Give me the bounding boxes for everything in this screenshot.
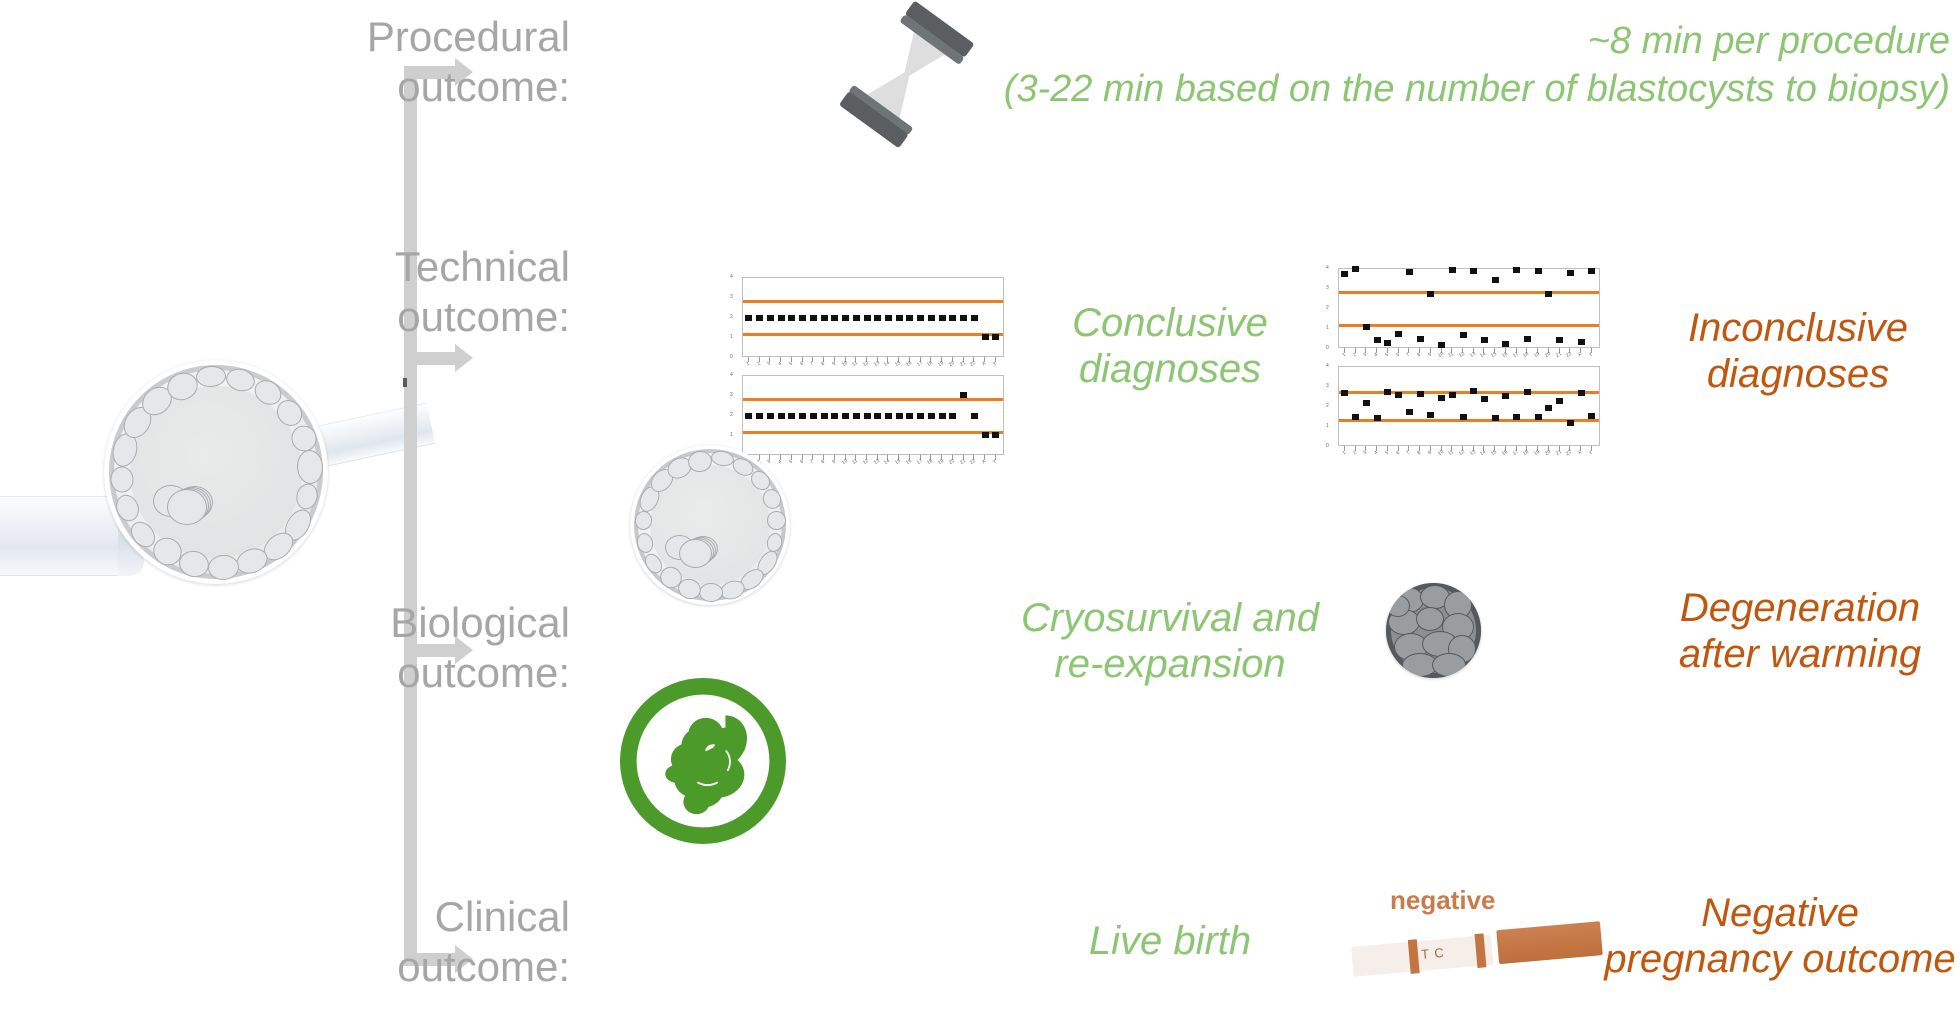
cnv-data-point [1374,337,1381,343]
row-label-clinical: Clinical outcome: [340,892,570,991]
cnv-data-point [1341,271,1348,277]
cnv-y-tick: 1 [730,334,733,340]
cnv-data-point [1395,392,1402,398]
cnv-data-point [1470,268,1477,274]
hourglass-icon [842,4,972,144]
procedural-annotation-line2: (3-22 min based on the number of blastoc… [1004,66,1950,114]
cnv-y-tick: 2 [1326,305,1329,311]
cnv-data-point [756,315,763,321]
biological-positive-text: Cryosurvival and re-expansion [1020,595,1320,687]
cnv-panel: 0123412345678910111213141516171819202122… [1338,268,1600,360]
cnv-data-point [1417,336,1424,342]
cnv-data-point [810,413,817,419]
cnv-plot-area: 01234 [1338,366,1600,446]
cnv-data-point [799,315,806,321]
cnv-data-point [917,413,924,419]
cnv-data-point [1481,337,1488,343]
cnv-y-tick: 3 [730,392,733,398]
cnv-y-tick: 0 [730,354,733,360]
clinical-positive-line1: Live birth [1040,918,1300,964]
fetus-icon [620,678,786,844]
cnv-data-point [1588,268,1595,274]
cnv-threshold-line [743,300,1003,303]
cnv-plot-area: 01234 [742,375,1004,455]
cnv-y-tick: 2 [730,314,733,320]
row-label-technical: Technical outcome: [340,242,570,341]
cnv-data-point [1374,415,1381,421]
cnv-data-point [799,413,806,419]
cnv-data-point [788,315,795,321]
cnv-plot-area: 01234 [1338,268,1600,348]
cnv-data-point [939,413,946,419]
cnv-data-point [864,413,871,419]
biological-negative-line1: Degeneration [1640,585,1960,631]
pregnancy-test-icon: T C [1350,917,1603,985]
bracket-tick [403,378,407,387]
cnv-data-point [745,413,752,419]
cnv-y-tick: 1 [1326,325,1329,331]
cnv-data-point [1363,324,1370,330]
cnv-data-point [1492,277,1499,283]
cnv-data-point [1352,414,1359,420]
cnv-plot-conclusive: 0123412345678910111213141516171819202122… [742,277,1004,467]
pregnancy-test-result-label: negative [1390,885,1496,916]
cnv-data-point [982,334,989,340]
cnv-data-point [1352,266,1359,272]
cnv-data-point [971,413,978,419]
cnv-data-point [1502,341,1509,347]
cnv-threshold-line [1339,291,1599,294]
cnv-data-point [1502,393,1509,399]
biological-positive-line1: Cryosurvival and [1020,595,1320,641]
bracket-arrow-technical [404,352,456,365]
row-label-line1: Technical [340,242,570,292]
cnv-y-tick: 3 [1326,383,1329,389]
cnv-panel: 0123412345678910111213141516171819202122… [742,277,1004,369]
cnv-y-tick: 0 [1326,345,1329,351]
cnv-data-point [928,315,935,321]
degenerated-blastocyst-icon [1386,583,1481,678]
cnv-data-point [896,413,903,419]
cnv-data-point [1449,392,1456,398]
cnv-data-point [745,315,752,321]
cnv-data-point [960,315,967,321]
cnv-data-point [906,315,913,321]
cnv-data-point [778,315,785,321]
cnv-data-point [1384,389,1391,395]
cnv-data-point [1427,291,1434,297]
cnv-data-point [821,315,828,321]
row-label-line2: outcome: [340,942,570,992]
cnv-panel: 0123412345678910111213141516171819202122… [1338,366,1600,458]
cnv-x-axis: 12345678910111213141516171819202122XY [1338,348,1600,360]
cnv-data-point [1588,413,1595,419]
cnv-data-point [949,413,956,419]
cnv-data-point [1567,420,1574,426]
cnv-y-tick: 2 [730,412,733,418]
cnv-threshold-line [1339,391,1599,394]
procedural-annotation: ~8 min per procedure (3-22 min based on … [1004,18,1950,113]
cnv-data-point [1341,390,1348,396]
cnv-data-point [1417,391,1424,397]
row-label-biological: Biological outcome: [340,598,570,697]
cnv-data-point [767,315,774,321]
cnv-plot-inconclusive: 0123412345678910111213141516171819202122… [1338,268,1600,458]
technical-negative-line2: diagnoses [1648,351,1948,397]
technical-positive-text: Conclusive diagnoses [1035,300,1305,392]
cnv-data-point [1524,389,1531,395]
clinical-negative-text: Negative pregnancy outcome [1600,890,1960,982]
bracket-stem [404,66,417,966]
cnv-data-point [1545,405,1552,411]
cnv-data-point [1556,337,1563,343]
cnv-data-point [1481,396,1488,402]
cnv-y-tick: 3 [1326,285,1329,291]
cnv-data-point [778,413,785,419]
cnv-data-point [1406,269,1413,275]
row-label-line1: Procedural [340,12,570,62]
cnv-data-point [1556,398,1563,404]
cnv-y-tick: 4 [1326,363,1329,369]
cnv-data-point [864,315,871,321]
cnv-data-point [842,413,849,419]
cnv-data-point [788,413,795,419]
technical-positive-line2: diagnoses [1035,346,1305,392]
cnv-plot-area: 01234 [742,277,1004,357]
cnv-data-point [1524,336,1531,342]
cnv-data-point [756,413,763,419]
cnv-data-point [810,315,817,321]
cnv-y-tick: 1 [1326,423,1329,429]
cnv-data-point [1545,291,1552,297]
cnv-y-tick: 4 [1326,265,1329,271]
technical-positive-line1: Conclusive [1035,300,1305,346]
cnv-data-point [767,413,774,419]
cnv-data-point [1406,409,1413,415]
cnv-y-tick: 0 [1326,443,1329,449]
biological-negative-text: Degeneration after warming [1640,585,1960,677]
cnv-data-point [1363,400,1370,406]
cnv-data-point [1395,331,1402,337]
cnv-data-point [1449,267,1456,273]
cnv-y-tick: 4 [730,274,733,280]
row-label-procedural: Procedural outcome: [340,12,570,111]
cnv-data-point [1535,268,1542,274]
blastocyst [104,360,328,584]
row-label-line2: outcome: [340,648,570,698]
procedural-annotation-line1: ~8 min per procedure [1004,18,1950,66]
cnv-data-point [1513,414,1520,420]
blastocyst-icon [630,445,790,605]
cnv-data-point [949,315,956,321]
cnv-data-point [1470,388,1477,394]
cnv-data-point [1513,267,1520,273]
cnv-data-point [1427,412,1434,418]
cnv-data-point [1438,395,1445,401]
cnv-data-point [982,432,989,438]
cnv-data-point [1535,414,1542,420]
cnv-data-point [992,432,999,438]
biological-negative-line2: after warming [1640,631,1960,677]
cnv-data-point [939,315,946,321]
cnv-data-point [821,413,828,419]
cnv-data-point [896,315,903,321]
cnv-data-point [853,315,860,321]
cnv-data-point [874,413,881,419]
technical-negative-text: Inconclusive diagnoses [1648,305,1948,397]
cnv-data-point [853,413,860,419]
cnv-data-point [1578,390,1585,396]
cnv-data-point [917,315,924,321]
cnv-data-point [874,315,881,321]
cnv-y-tick: 1 [730,432,733,438]
cnv-data-point [1578,339,1585,345]
row-label-line2: outcome: [340,62,570,112]
row-label-line2: outcome: [340,292,570,342]
cnv-data-point [1567,270,1574,276]
clinical-negative-line1: Negative [1600,890,1960,936]
cnv-data-point [1492,415,1499,421]
cnv-data-point [1384,340,1391,346]
cnv-data-point [906,413,913,419]
cnv-data-point [831,315,838,321]
figure-canvas: Procedural outcome: Technical outcome: B… [0,0,1960,1032]
cnv-data-point [885,315,892,321]
cnv-data-point [885,413,892,419]
cnv-x-axis: 12345678910111213141516171819202122XY [742,357,1004,369]
cnv-data-point [992,334,999,340]
cnv-data-point [928,413,935,419]
cnv-data-point [1460,414,1467,420]
cnv-data-point [960,392,967,398]
clinical-negative-line2: pregnancy outcome [1600,936,1960,982]
cnv-data-point [831,413,838,419]
cnv-y-tick: 3 [730,294,733,300]
cnv-y-tick: 4 [730,372,733,378]
technical-negative-line1: Inconclusive [1648,305,1948,351]
cnv-data-point [842,315,849,321]
cnv-data-point [1460,332,1467,338]
cnv-threshold-line [1339,324,1599,327]
biological-positive-line2: re-expansion [1020,641,1320,687]
cnv-data-point [971,315,978,321]
row-label-line1: Clinical [340,892,570,942]
row-label-line1: Biological [340,598,570,648]
cnv-threshold-line [743,431,1003,434]
cnv-y-tick: 2 [1326,403,1329,409]
clinical-positive-text: Live birth [1040,918,1300,964]
cnv-threshold-line [743,333,1003,336]
cnv-x-axis: 12345678910111213141516171819202122XY [1338,446,1600,458]
